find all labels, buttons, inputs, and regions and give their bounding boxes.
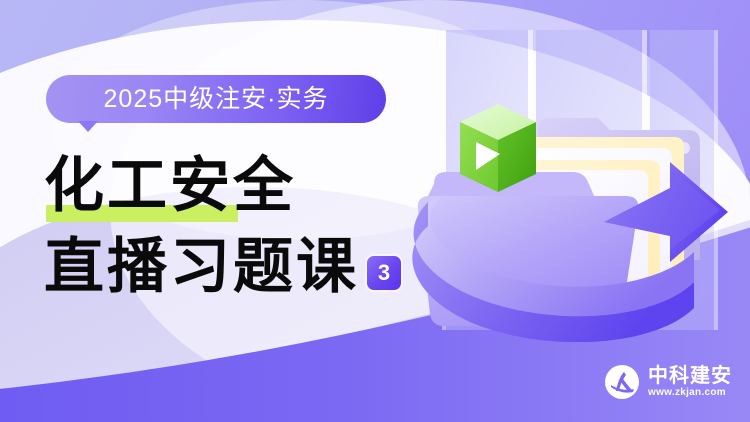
logo-company-name: 中科建安 (648, 366, 732, 386)
course-category-badge: 2025中级注安·实务 (46, 75, 386, 133)
badge-label: 2025中级注安·实务 (104, 87, 329, 112)
headline-line-1: 化工安全 (44, 155, 296, 218)
logo-website-url: www.zkjan.com (648, 388, 732, 398)
course-banner: 2025中级注安·实务 化工安全 直播习题课3 中科建安 www.zkjan.c… (0, 0, 750, 422)
zkjan-circle-logo-icon (604, 364, 640, 400)
headline-block: 化工安全 直播习题课3 (44, 155, 464, 300)
episode-number-badge: 3 (367, 256, 401, 290)
brand-logo: 中科建安 www.zkjan.com (604, 364, 732, 400)
green-play-cube-icon (460, 104, 536, 192)
headline-line-2-row: 直播习题课3 (44, 236, 464, 300)
headline-line-1-row: 化工安全 (44, 155, 464, 218)
badge-tail-icon (78, 121, 98, 132)
logo-text-group: 中科建安 www.zkjan.com (648, 366, 732, 398)
headline-line-2: 直播习题课 (44, 236, 359, 299)
badge-pill: 2025中级注安·实务 (46, 75, 386, 123)
